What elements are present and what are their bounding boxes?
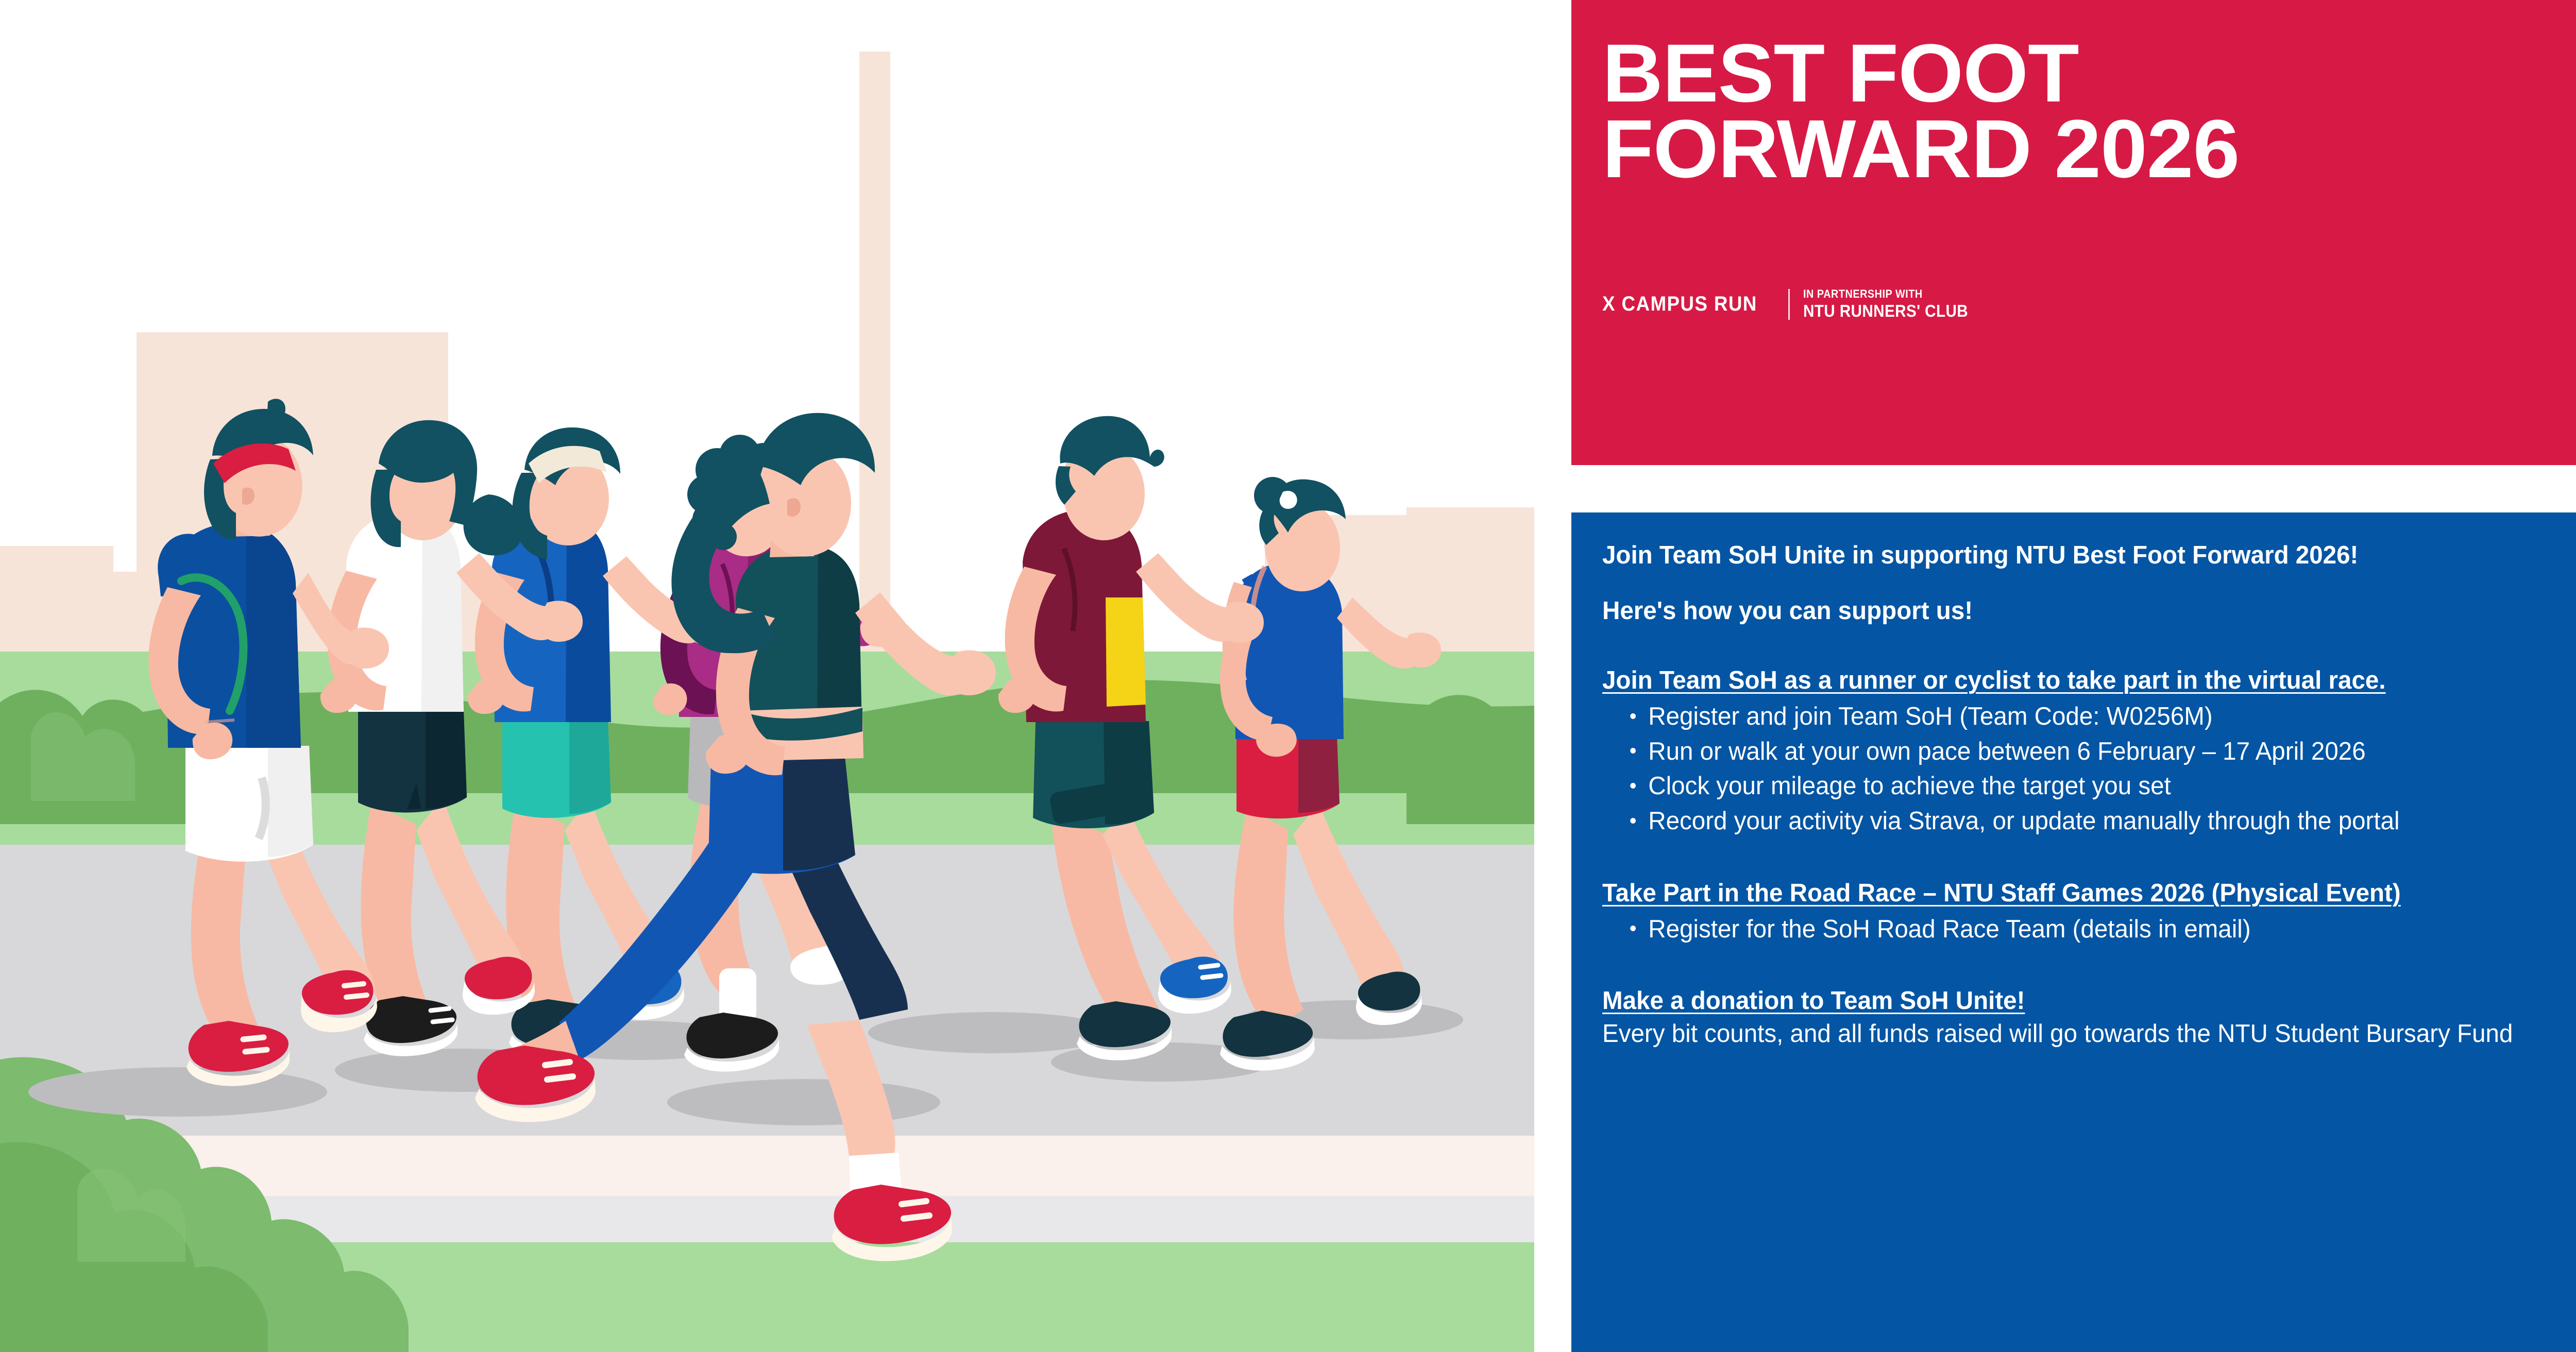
body-panel: Join Team SoH Unite in supporting NTU Be… [1571,512,2576,1352]
bullet-dot-icon [1630,818,1636,824]
bullet-dot-icon [1630,713,1636,719]
bullet-dot-icon [1630,748,1636,754]
list-item: Record your activity via Strava, or upda… [1602,805,2522,838]
sub-intro-headline: Here's how you can support us! [1602,595,2522,628]
title-line-1: BEST FOOT [1602,35,2576,111]
section-heading-virtual-race: Join Team SoH as a runner or cyclist to … [1602,664,2522,697]
partner-block: IN PARTNERSHIP WITH NTU RUNNERS' CLUB [1803,287,1987,321]
title-line-2: FORWARD 2026 [1602,111,2576,186]
spacer [1602,627,2522,664]
list-item: Run or walk at your own pace between 6 F… [1602,735,2522,768]
bullet-list-road-race: Register for the SoH Road Race Team (det… [1602,913,2522,946]
bullet-list-virtual-race: Register and join Team SoH (Team Code: W… [1602,700,2522,838]
logo-lockup: X CAMPUS RUN IN PARTNERSHIP WITH NTU RUN… [1602,287,1987,321]
donation-note: Every bit counts, and all funds raised w… [1602,1018,2522,1051]
page-title: BEST FOOT FORWARD 2026 [1602,35,2576,186]
list-item-label: Record your activity via Strava, or upda… [1648,807,2399,835]
partnership-label: IN PARTNERSHIP WITH [1803,287,1968,300]
spacer [1602,572,2522,595]
section-heading-donation: Make a donation to Team SoH Unite! [1602,985,2522,1018]
spacer [1602,948,2522,985]
spacer [1602,840,2522,877]
intro-headline: Join Team SoH Unite in supporting NTU Be… [1602,539,2522,572]
partner-name: NTU RUNNERS' CLUB [1803,301,1968,321]
list-item-label: Register for the SoH Road Race Team (det… [1648,915,2250,943]
runners-illustration [0,0,1534,1352]
runners-illustration-svg [0,0,1534,1352]
list-item-label: Run or walk at your own pace between 6 F… [1648,738,2365,765]
list-item-label: Clock your mileage to achieve the target… [1648,772,2171,800]
bullet-dot-icon [1630,926,1636,931]
list-item: Register and join Team SoH (Team Code: W… [1602,700,2522,733]
list-item-label: Register and join Team SoH (Team Code: W… [1648,703,2212,730]
bullet-dot-icon [1630,783,1636,789]
list-item: Clock your mileage to achieve the target… [1602,770,2522,803]
lockup-divider [1788,289,1790,320]
list-item: Register for the SoH Road Race Team (det… [1602,913,2522,946]
body-copy: Join Team SoH Unite in supporting NTU Be… [1602,539,2522,1051]
campus-run-logo: X CAMPUS RUN [1602,293,1757,316]
header-panel: BEST FOOT FORWARD 2026 X CAMPUS RUN IN P… [1571,0,2576,465]
section-heading-road-race: Take Part in the Road Race – NTU Staff G… [1602,877,2522,910]
